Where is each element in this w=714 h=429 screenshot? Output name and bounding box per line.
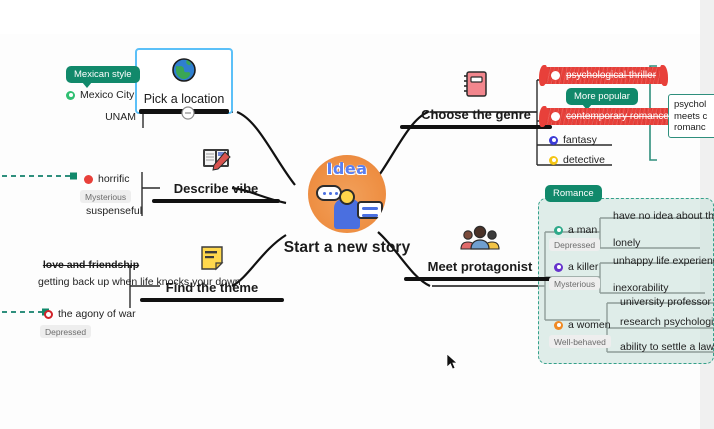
list-item[interactable]: getting back up when life knocks your do…	[32, 273, 132, 292]
lightbulb-head-shape	[339, 189, 355, 205]
bulb-circle-icon	[549, 156, 558, 165]
node-meet-protagonist[interactable]: Meet protagonist	[404, 224, 556, 281]
list-item[interactable]: research psychologist	[614, 313, 714, 331]
list-item[interactable]: the agony of war	[38, 305, 134, 323]
list-item-label: love and friendship	[43, 259, 139, 271]
node-choose-the-genre[interactable]: Choose the genre	[400, 70, 552, 129]
protagonist-a-killer[interactable]: a killer	[548, 258, 614, 276]
trait-man-1[interactable]: have no idea about the fut	[607, 207, 714, 225]
list-item-label: lonely	[613, 237, 640, 249]
list-item-label: horrific	[98, 173, 130, 185]
speech-bubble-shape	[316, 185, 342, 201]
idea-icon-word: Idea	[308, 159, 386, 178]
list-item-label: Mexico City	[80, 89, 134, 101]
location-sublist[interactable]: Mexico City	[60, 86, 142, 104]
mouse-cursor	[446, 353, 458, 371]
notebook-icon	[400, 70, 552, 103]
check-circle-icon	[66, 91, 75, 100]
trait-women-3[interactable]: ability to settle a lawsuit	[614, 338, 714, 356]
genre-item-detective[interactable]: detective	[543, 151, 623, 169]
node-label: Describe vibe	[152, 181, 280, 196]
list-item-label: getting back up when life knocks your do…	[38, 276, 241, 288]
list-item-label: UNAM	[105, 111, 136, 123]
list-item-label: research psychologist	[620, 316, 714, 328]
list-item[interactable]: have no idea about the fut	[607, 207, 714, 225]
list-item-label: the agony of war	[58, 308, 136, 320]
node-describe-vibe[interactable]: Describe vibe	[152, 146, 280, 203]
list-item[interactable]: a women	[548, 316, 618, 334]
book-pencil-icon	[152, 146, 280, 177]
list-item-label: ability to settle a lawsuit	[620, 341, 714, 353]
list-item-label: detective	[563, 154, 605, 166]
list-item[interactable]: suspenseful	[80, 202, 142, 220]
protagonist-a-man[interactable]: a man	[548, 221, 614, 239]
list-item-label: unhappy life experience	[613, 255, 714, 267]
list-item[interactable]: a killer	[548, 258, 614, 276]
theme-item-agony-of-war[interactable]: the agony of war	[38, 305, 134, 323]
location-style-tag[interactable]: Mexican style	[66, 66, 140, 83]
person-circle-icon	[554, 226, 563, 235]
list-item[interactable]: fantasy	[543, 131, 623, 149]
mindmap-canvas-root: Romance Idea Start a new story Pick a lo…	[0, 0, 714, 429]
node-label: Pick a location	[144, 92, 225, 106]
genre-item-fantasy[interactable]: fantasy	[543, 131, 623, 149]
theme-tag-depressed[interactable]: Depressed	[40, 325, 91, 338]
protagonist-a-women[interactable]: a women	[548, 316, 618, 334]
node-find-the-theme[interactable]: Find the theme	[140, 245, 284, 302]
list-item-label: contemporary romance	[566, 111, 669, 122]
node-underline	[404, 277, 556, 281]
list-item[interactable]: UNAM	[84, 108, 142, 126]
theme-item-getting-back-up[interactable]: getting back up when life knocks your do…	[32, 273, 132, 292]
list-item[interactable]: love and friendship	[52, 256, 130, 274]
globe-icon	[171, 57, 197, 88]
list-item-label: fantasy	[563, 134, 597, 146]
person-circle-icon	[554, 263, 563, 272]
trait-women-1[interactable]: university professor	[614, 293, 714, 311]
list-item-label: suspenseful	[86, 205, 142, 217]
protagonist-tag-well-behaved[interactable]: Well-behaved	[549, 335, 611, 348]
list-item-label: a man	[568, 224, 597, 236]
trait-man-2[interactable]: lonely	[607, 234, 707, 252]
sticky-note-icon	[140, 245, 284, 276]
list-item[interactable]: ability to settle a lawsuit	[614, 338, 714, 356]
idea-lightbulb-icon: Idea	[308, 155, 386, 233]
collapse-toggle-icon[interactable]	[180, 105, 196, 121]
list-item[interactable]: a man	[548, 221, 614, 239]
protagonist-tag-depressed[interactable]: Depressed	[549, 238, 600, 251]
list-item-label: university professor	[620, 296, 711, 308]
flag-circle-icon	[549, 136, 558, 145]
list-item-label: a women	[568, 319, 611, 331]
target-icon	[551, 112, 560, 121]
node-underline	[152, 199, 280, 203]
node-label: Meet protagonist	[404, 259, 556, 274]
trait-women-2[interactable]: research psychologist	[614, 313, 714, 331]
trait-killer-1[interactable]: unhappy life experience	[607, 252, 714, 270]
list-item[interactable]: horrific	[78, 170, 140, 188]
target-icon	[551, 71, 560, 80]
list-item[interactable]: lonely	[607, 234, 707, 252]
node-label: Choose the genre	[400, 107, 552, 122]
node-underline	[400, 125, 552, 129]
note-card-shape	[357, 201, 383, 219]
list-item-label: a killer	[568, 261, 598, 273]
list-item-label: have no idea about the fut	[613, 210, 714, 222]
list-item[interactable]: Mexico City	[60, 86, 142, 104]
person-circle-icon	[554, 321, 563, 330]
node-underline	[140, 298, 284, 302]
list-item[interactable]: detective	[543, 151, 623, 169]
theme-item-love[interactable]: love and friendship	[52, 256, 130, 274]
genre-summary-note[interactable]: psychol meets c romanc	[668, 94, 714, 138]
list-item[interactable]: university professor	[614, 293, 714, 311]
genre-item-psychological-thriller[interactable]: psychological thriller	[542, 67, 665, 84]
list-item-label: psychological thriller	[566, 70, 656, 81]
dot-icon	[84, 175, 93, 184]
list-item[interactable]: unhappy life experience	[607, 252, 714, 270]
genre-item-contemporary-romance[interactable]: contemporary romance	[542, 108, 678, 125]
protagonist-tag-mysterious[interactable]: Mysterious	[549, 277, 600, 290]
minus-circle-icon	[44, 310, 53, 319]
three-people-icon	[404, 224, 556, 255]
vibe-item-horrific[interactable]: horrific	[78, 170, 140, 188]
vibe-item-suspenseful[interactable]: suspenseful	[80, 202, 142, 220]
more-popular-tag[interactable]: More popular	[566, 88, 638, 105]
romance-group-tag[interactable]: Romance	[545, 185, 602, 202]
location-sublist-2[interactable]: UNAM	[84, 108, 142, 126]
